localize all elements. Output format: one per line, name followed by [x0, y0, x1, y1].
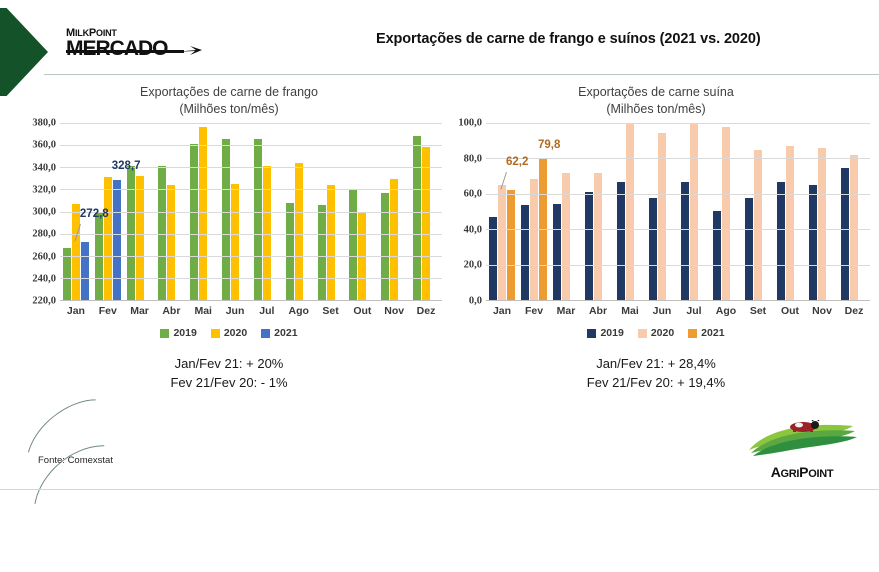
- page-title: Exportações de carne de frango e suínos …: [376, 31, 846, 47]
- chart-title-frango-line2: (Milhões ton/mês): [14, 101, 444, 118]
- bar-2021-fev: [113, 180, 121, 300]
- chart-title-frango: Exportações de carne de frango (Milhões …: [14, 84, 444, 117]
- x-tick-label: Nov: [378, 301, 410, 323]
- y-tick-label: 280,0: [32, 229, 56, 240]
- x-tick-label: Jun: [646, 301, 678, 323]
- chart-title-frango-line1: Exportações de carne de frango: [140, 85, 318, 99]
- logo-line-mercado: MERCADO: [66, 38, 202, 59]
- gridline: [486, 194, 870, 195]
- bar-2019-jul: [254, 139, 262, 301]
- gridline: [60, 123, 442, 124]
- legend-label: 2020: [224, 327, 247, 339]
- x-tick-label: Jan: [486, 301, 518, 323]
- legend-swatch-icon: [638, 329, 647, 338]
- header-divider: [44, 74, 879, 75]
- note-suina-1: Jan/Fev 21: + 28,4%: [440, 355, 872, 374]
- bar-2020-out: [786, 146, 794, 300]
- gridline: [486, 265, 870, 266]
- y-tick-label: 360,0: [32, 140, 56, 151]
- legend-swatch-icon: [587, 329, 596, 338]
- x-tick-label: Dez: [838, 301, 870, 323]
- chart-title-suina-line2: (Milhões ton/mês): [440, 101, 872, 118]
- agri-oint: OINT: [808, 468, 833, 480]
- gridline: [60, 256, 442, 257]
- y-tick-label: 220,0: [32, 296, 56, 307]
- legend-swatch-icon: [688, 329, 697, 338]
- bar-2020-fev: [104, 177, 112, 300]
- x-tick-label: Out: [346, 301, 378, 323]
- gridline: [60, 212, 442, 213]
- x-tick-label: Set: [742, 301, 774, 323]
- bar-2019-ago: [713, 211, 721, 300]
- note-frango-1: Jan/Fev 21: + 20%: [14, 355, 444, 374]
- legend-label: 2021: [274, 327, 297, 339]
- bar-2020-ago: [295, 163, 303, 300]
- x-tick-label: Jul: [251, 301, 283, 323]
- slide-canvas: MILKPOINT MERCADO Exportações de carne d…: [0, 0, 879, 496]
- bar-2019-fev: [521, 205, 529, 300]
- plot-canvas-frango: 272,8328,7: [60, 123, 442, 301]
- bar-2019-jul: [681, 182, 689, 300]
- agri-a: A: [771, 464, 781, 480]
- x-tick-label: Out: [774, 301, 806, 323]
- bar-group: [582, 123, 614, 300]
- legend-swatch-icon: [160, 329, 169, 338]
- gridline: [60, 145, 442, 146]
- bar-2019-out: [349, 190, 357, 300]
- y-tick-label: 0,0: [469, 296, 482, 307]
- x-tick-label: Jun: [219, 301, 251, 323]
- y-axis-suina: 100,080,060,040,020,00,0: [440, 123, 486, 301]
- y-tick-label: 20,0: [464, 260, 482, 271]
- bar-2020-dez: [850, 155, 858, 300]
- legend-swatch-icon: [261, 329, 270, 338]
- x-tick-label: Fev: [92, 301, 124, 323]
- y-tick-label: 260,0: [32, 251, 56, 262]
- legend-label: 2021: [701, 327, 724, 339]
- legend-label: 2019: [600, 327, 623, 339]
- bar-group: [806, 123, 838, 300]
- bar-group: [742, 123, 774, 300]
- gridline: [486, 158, 870, 159]
- legend-label: 2020: [651, 327, 674, 339]
- data-label: 62,2: [506, 156, 528, 168]
- legend-item-2019[interactable]: 2019: [587, 327, 623, 339]
- x-tick-label: Dez: [410, 301, 442, 323]
- x-tick-label: Mai: [614, 301, 646, 323]
- x-tick-label: Jan: [60, 301, 92, 323]
- bar-2020-mar: [562, 173, 570, 300]
- plot-canvas-suina: 62,279,8: [486, 123, 870, 301]
- x-tick-label: Ago: [283, 301, 315, 323]
- x-axis-frango: JanFevMarAbrMaiJunJulAgoSetOutNovDez: [60, 301, 442, 323]
- bar-2020-abr: [594, 173, 602, 300]
- legend-swatch-icon: [211, 329, 220, 338]
- bar-2020-nov: [390, 179, 398, 300]
- bar-group: [678, 123, 710, 300]
- bar-2019-set: [745, 198, 753, 300]
- legend-item-2021[interactable]: 2021: [688, 327, 724, 339]
- y-axis-frango: 380,0360,0340,0320,0300,0280,0260,0240,0…: [14, 123, 60, 301]
- bar-group: [710, 123, 742, 300]
- note-frango-2: Fev 21/Fev 20: - 1%: [14, 374, 444, 393]
- x-tick-label: Mai: [187, 301, 219, 323]
- bar-group: [614, 123, 646, 300]
- bar-group: [486, 123, 518, 300]
- agripoint-wordmark: AGRIPOINT: [741, 464, 863, 480]
- agripoint-logo: AGRIPOINT: [741, 420, 863, 482]
- chart-panel-suina: Exportações de carne suína (Milhões ton/…: [440, 84, 872, 393]
- chart-panel-frango: Exportações de carne de frango (Milhões …: [14, 84, 444, 393]
- bar-2020-abr: [167, 185, 175, 300]
- agri-p: P: [799, 464, 808, 480]
- bar-2020-mar: [136, 176, 144, 300]
- y-tick-label: 80,0: [464, 153, 482, 164]
- data-label: 272,8: [80, 208, 109, 220]
- bar-2019-nov: [381, 193, 389, 300]
- data-label: 328,7: [112, 160, 141, 172]
- legend-item-2021[interactable]: 2021: [261, 327, 297, 339]
- arrow-icon: [174, 44, 202, 56]
- bar-2020-mai: [626, 123, 634, 300]
- gridline: [60, 189, 442, 190]
- bar-group: [646, 123, 678, 300]
- gridline: [486, 229, 870, 230]
- bar-2021-jan: [507, 190, 515, 300]
- bar-2020-jan: [498, 185, 506, 300]
- decorative-green-chevron: [0, 8, 48, 96]
- chart-title-suina: Exportações de carne suína (Milhões ton/…: [440, 84, 872, 117]
- bar-2020-set: [327, 185, 335, 300]
- bar-2020-jul: [690, 123, 698, 300]
- y-tick-label: 240,0: [32, 273, 56, 284]
- bar-2021-jan: [81, 242, 89, 300]
- legend-item-2020[interactable]: 2020: [211, 327, 247, 339]
- y-tick-label: 380,0: [32, 118, 56, 129]
- y-tick-label: 40,0: [464, 224, 482, 235]
- x-tick-label: Fev: [518, 301, 550, 323]
- bar-group: [838, 123, 870, 300]
- bar-2019-ago: [286, 203, 294, 300]
- plot-area-frango: 380,0360,0340,0320,0300,0280,0260,0240,0…: [14, 123, 444, 323]
- y-tick-label: 100,0: [458, 118, 482, 129]
- x-tick-label: Jul: [678, 301, 710, 323]
- bar-2020-nov: [818, 148, 826, 300]
- x-tick-label: Nov: [806, 301, 838, 323]
- legend-frango: 201920202021: [14, 327, 444, 339]
- legend-label: 2019: [173, 327, 196, 339]
- bar-2020-fev: [530, 179, 538, 300]
- bar-2020-ago: [722, 127, 730, 300]
- legend-item-2019[interactable]: 2019: [160, 327, 196, 339]
- x-tick-label: Set: [315, 301, 347, 323]
- logo-strike-bar: [66, 50, 184, 53]
- bar-2019-out: [777, 182, 785, 300]
- x-tick-label: Mar: [550, 301, 582, 323]
- milkpoint-mercado-logo: MILKPOINT MERCADO: [66, 28, 202, 62]
- x-tick-label: Abr: [155, 301, 187, 323]
- bar-2019-nov: [809, 185, 817, 300]
- bar-2019-abr: [585, 192, 593, 300]
- notes-frango: Jan/Fev 21: + 20% Fev 21/Fev 20: - 1%: [14, 355, 444, 393]
- agri-gri: GRI: [781, 468, 800, 480]
- x-axis-suina: JanFevMarAbrMaiJunJulAgoSetOutNovDez: [486, 301, 870, 323]
- chart-title-suina-line1: Exportações de carne suína: [578, 85, 734, 99]
- bottom-divider: [0, 489, 879, 490]
- y-tick-label: 320,0: [32, 184, 56, 195]
- data-label: 79,8: [538, 139, 560, 151]
- y-tick-label: 340,0: [32, 162, 56, 173]
- bar-2020-jun: [231, 184, 239, 300]
- bar-2019-jun: [649, 198, 657, 300]
- x-tick-label: Ago: [710, 301, 742, 323]
- logo-mercado-text: MERCADO: [66, 37, 168, 60]
- bar-2020-set: [754, 150, 762, 300]
- bar-group: [774, 123, 806, 300]
- bar-2020-jan: [72, 204, 80, 300]
- bar-2019-set: [318, 205, 326, 300]
- x-tick-label: Abr: [582, 301, 614, 323]
- bar-2019-jun: [222, 139, 230, 301]
- gridline: [60, 278, 442, 279]
- legend-suina: 201920202021: [440, 327, 872, 339]
- x-tick-label: Mar: [124, 301, 156, 323]
- gridline: [486, 123, 870, 124]
- agripoint-field-icon: [741, 420, 863, 458]
- bar-2019-mai: [617, 182, 625, 300]
- y-tick-label: 300,0: [32, 207, 56, 218]
- legend-item-2020[interactable]: 2020: [638, 327, 674, 339]
- note-suina-2: Fev 21/Fev 20: + 19,4%: [440, 374, 872, 393]
- notes-suina: Jan/Fev 21: + 28,4% Fev 21/Fev 20: + 19,…: [440, 355, 872, 393]
- bar-2019-dez: [841, 168, 849, 300]
- bar-2019-dez: [413, 136, 421, 300]
- bar-2019-mar: [553, 204, 561, 300]
- bar-2020-mai: [199, 127, 207, 300]
- plot-area-suina: 100,080,060,040,020,00,0 62,279,8 JanFev…: [440, 123, 872, 323]
- y-tick-label: 60,0: [464, 189, 482, 200]
- gridline: [60, 234, 442, 235]
- source-note: Fonte: Comexstat: [38, 455, 113, 466]
